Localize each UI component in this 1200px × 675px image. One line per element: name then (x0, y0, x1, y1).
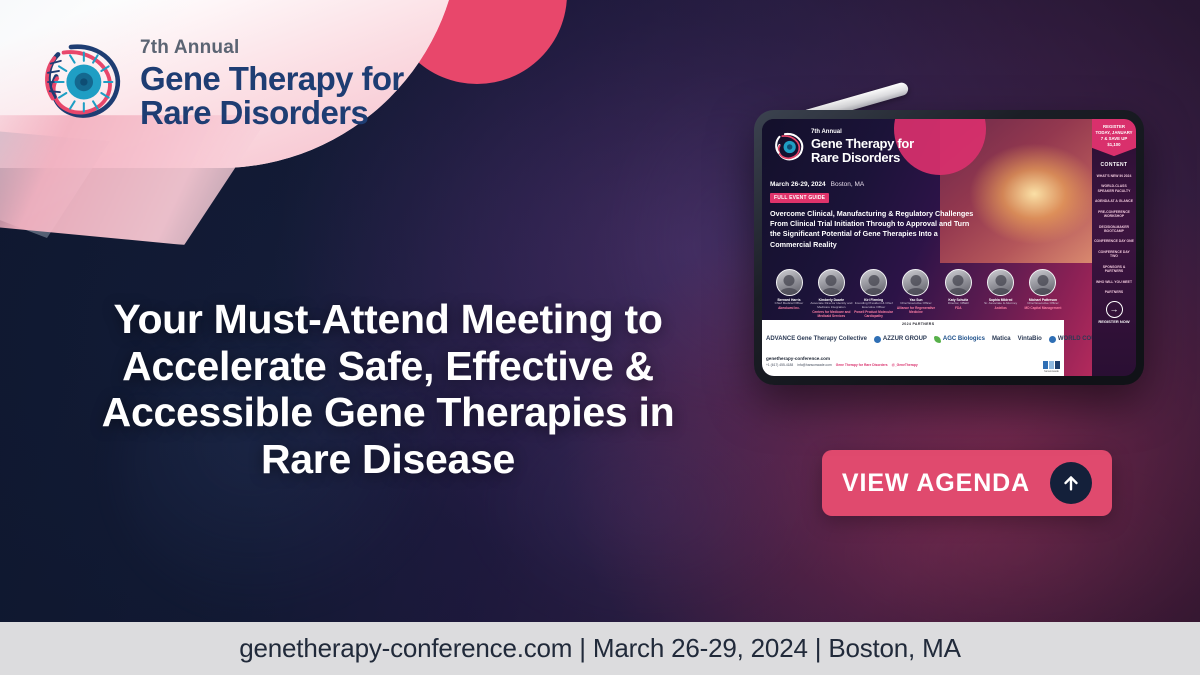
brochure-contact-meta: +1 (617) 455-4188 info@hansonwade.com Ge… (766, 363, 1060, 367)
footer-bar: genetherapy-conference.com | March 26-29… (0, 622, 1200, 675)
rail-heading: CONTENT (1101, 162, 1128, 168)
avatar (902, 269, 929, 296)
brochure-date: March 26-29, 2024 (770, 181, 826, 188)
partner-name: AZZUR GROUP (883, 336, 927, 342)
footer-text: genetherapy-conference.com | March 26-29… (239, 633, 960, 664)
hansonwade-logo-icon: hansonwade (1043, 361, 1060, 373)
brochure-location: Boston, MA (831, 181, 865, 188)
brochure-logo-annual: 7th Annual (811, 129, 914, 135)
linkedin-handle: Gene Therapy for Rare Disorders (836, 363, 888, 367)
matica-logo-icon: Matica (992, 336, 1011, 342)
speaker-card: Michael Patterson Chief Executive Office… (1022, 269, 1064, 318)
register-now-button[interactable]: → REGISTER NOW (1098, 301, 1129, 325)
brochure-subheadline: Overcome Clinical, Manufacturing & Regul… (770, 209, 975, 250)
tablet-device: 7th Annual Gene Therapy for Rare Disorde… (754, 110, 1144, 385)
speaker-role: Founding President & Chief Executive Off… (853, 302, 895, 310)
speaker-card: Kiri Fleming Founding President & Chief … (853, 269, 895, 318)
agc-leaf-icon: AGC Biologics (934, 336, 985, 343)
view-agenda-label: VIEW AGENDA (842, 469, 1030, 498)
azzur-globe-icon: AZZUR GROUP (874, 336, 927, 343)
brochure-logo-line1: Gene Therapy for (811, 137, 914, 151)
speaker-org: Abeokumi Inc. (768, 306, 810, 310)
brochure-url[interactable]: genetherapy-conference.com (766, 356, 1060, 361)
logo-title-line1: Gene Therapy for (140, 62, 404, 96)
partner-name: AGC Biologics (943, 336, 985, 342)
brochure-partners-strip: 2024 PARTNERS ADVANCE Gene Therapy Colle… (762, 320, 1064, 354)
register-now-label: REGISTER NOW (1098, 320, 1129, 325)
brochure-logo: 7th Annual Gene Therapy for Rare Disorde… (772, 129, 914, 164)
partner-name: VintaBio (1018, 336, 1042, 342)
rail-item[interactable]: WORLD-CLASS SPEAKER FACULTY (1092, 181, 1136, 196)
rail-item[interactable]: PARTNERS (1092, 287, 1136, 297)
avatar (1029, 269, 1056, 296)
logo-title-line2: Rare Disorders (140, 96, 404, 130)
rail-item[interactable]: CONFERENCE DAY TWO (1092, 247, 1136, 262)
rail-item[interactable]: WHAT'S NEW IN 2024 (1092, 171, 1136, 181)
rail-item[interactable]: SPONSORS & PARTNERS (1092, 262, 1136, 277)
speaker-org: Centers for Medicare and Medicaid Servic… (810, 310, 852, 318)
view-agenda-button[interactable]: VIEW AGENDA (822, 450, 1112, 516)
register-promo-badge: REGISTER TODAY, JANUARY 7 & SAVE UP $1,1… (1092, 119, 1136, 156)
rail-item[interactable]: AGENDA AT A GLANCE (1092, 196, 1136, 206)
speaker-card: Kimberly Duarte Associate Director Ident… (810, 269, 852, 318)
arrow-up-icon (1050, 462, 1092, 504)
partner-name: Matica (992, 336, 1011, 342)
brochure-page: 7th Annual Gene Therapy for Rare Disorde… (762, 119, 1092, 376)
promo-banner: 7th Annual Gene Therapy for Rare Disorde… (0, 0, 1200, 675)
speaker-org: MD Capital Management (1022, 306, 1064, 310)
rail-item[interactable]: PRE-CONFERENCE WORKSHOP (1092, 207, 1136, 222)
partner-name: ADVANCE Gene Therapy Collective (766, 336, 867, 342)
rail-item[interactable]: CONFERENCE DAY ONE (1092, 236, 1136, 246)
brochure-guide-pill: FULL EVENT GUIDE (770, 193, 829, 203)
advance-logo-icon: ADVANCE Gene Therapy Collective (766, 336, 867, 342)
speaker-org: FDA (937, 306, 979, 310)
twitter-handle: @_GeneTherapy (892, 363, 918, 367)
brand-logo-text: 7th Annual Gene Therapy for Rare Disorde… (140, 34, 404, 129)
brochure-speaker-row: Bernard Harris Chief Medical Officer Abe… (768, 269, 1064, 318)
partners-title: 2024 PARTNERS (902, 322, 934, 326)
logo-annual-label: 7th Annual (140, 38, 404, 57)
tablet-screen[interactable]: 7th Annual Gene Therapy for Rare Disorde… (762, 119, 1136, 376)
speaker-card: Bernard Harris Chief Medical Officer Abe… (768, 269, 810, 318)
speaker-card: Katy Schultz Director, CBER FDA (937, 269, 979, 318)
avatar (945, 269, 972, 296)
speaker-org: Astellas (980, 306, 1022, 310)
arrow-right-icon: → (1106, 301, 1123, 318)
brochure-date-location: March 26-29, 2024 Boston, MA (770, 181, 864, 188)
speaker-org: Alliance for Regenerative Medicine (895, 306, 937, 314)
brand-logo[interactable]: 7th Annual Gene Therapy for Rare Disorde… (36, 34, 404, 129)
partner-logo-list: ADVANCE Gene Therapy Collective AZZUR GR… (766, 332, 1060, 343)
speaker-card: Sophia Mildred Sr. Associate & Attorney … (980, 269, 1022, 318)
brochure-footer: genetherapy-conference.com +1 (617) 455-… (762, 354, 1064, 376)
dna-virus-logo-icon (36, 36, 128, 128)
vintabio-logo-icon: VintaBio (1018, 336, 1042, 342)
dna-virus-logo-icon (772, 130, 806, 164)
hero-headline: Your Must-Attend Meeting to Accelerate S… (58, 296, 718, 483)
rail-item[interactable]: WHO WILL YOU MEET (1092, 277, 1136, 287)
brochure-logo-text: 7th Annual Gene Therapy for Rare Disorde… (811, 129, 914, 164)
avatar (987, 269, 1014, 296)
speaker-card: Yao Sun Chief Executive Officer Alliance… (895, 269, 937, 318)
brochure-side-rail: REGISTER TODAY, JANUARY 7 & SAVE UP $1,1… (1092, 119, 1136, 376)
rail-item[interactable]: DECISION-MAKER BOOTCAMP (1092, 222, 1136, 237)
avatar (776, 269, 803, 296)
phone: +1 (617) 455-4188 (766, 363, 793, 367)
avatar (860, 269, 887, 296)
hansonwade-label: hansonwade (1044, 370, 1059, 373)
brochure-logo-line2: Rare Disorders (811, 151, 914, 165)
avatar (818, 269, 845, 296)
speaker-role: Associate Director Identity and Medicare… (810, 302, 852, 310)
speaker-org: Powell Product Molecular Cardiopathy (853, 310, 895, 318)
email: info@hansonwade.com (797, 363, 832, 367)
